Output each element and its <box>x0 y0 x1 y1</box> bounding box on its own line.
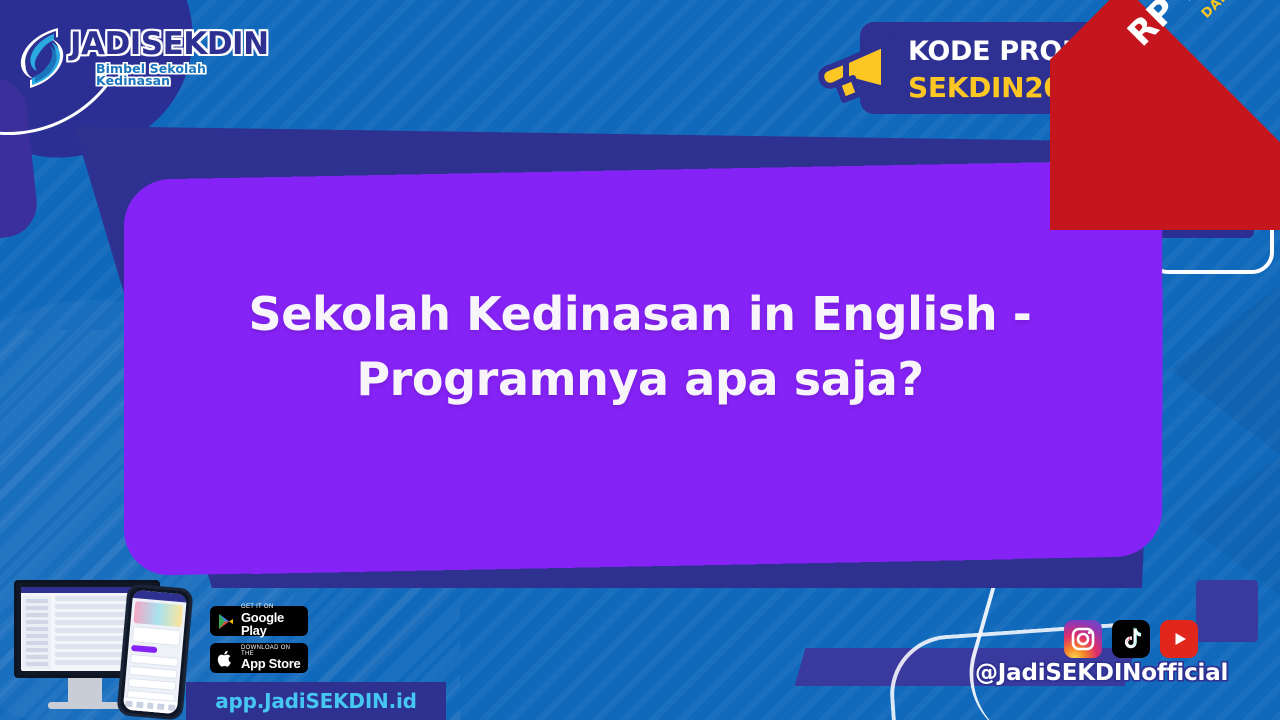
phone-promo-card <box>132 626 181 646</box>
brand-logo[interactable]: JADISEKDIN Bimbel Sekolah Kedinasan <box>14 20 254 96</box>
navy-square-bottom-right <box>1196 580 1258 642</box>
discount-ribbon: DAPATKAN POTONGAN HARGA RP 20.000 <box>1050 0 1280 230</box>
app-store-badges: GET IT ON Google Play Download on the Ap… <box>210 606 308 680</box>
megaphone-icon <box>812 28 908 120</box>
google-play-badge[interactable]: GET IT ON Google Play <box>210 606 308 636</box>
phone-hero-banner <box>133 601 183 627</box>
device-mockups <box>6 578 216 720</box>
apple-icon <box>216 649 235 668</box>
discount-ribbon-subtext: DAPATKAN POTONGAN HARGA <box>1192 0 1280 42</box>
triangle-accent-right-lower <box>1185 455 1280 595</box>
discount-ribbon-text: DAPATKAN POTONGAN HARGA RP 20.000 <box>1050 0 1280 230</box>
phone-screen <box>123 590 187 714</box>
page-title-line-2: Programnya apa saja? <box>180 347 1100 412</box>
desktop-monitor-base <box>48 702 122 709</box>
google-play-badge-label: Google Play <box>241 611 302 638</box>
phone-chip <box>131 645 157 653</box>
brand-logo-tagline: Bimbel Sekolah Kedinasan <box>96 63 269 88</box>
instagram-icon[interactable] <box>1064 620 1102 658</box>
purple-blob-shape <box>0 75 40 246</box>
app-store-badge-label: App Store <box>241 657 302 671</box>
app-store-badge[interactable]: Download on the App Store <box>210 643 308 673</box>
triangle-accent-right <box>1170 285 1280 455</box>
social-icons <box>1064 620 1204 660</box>
page-title: Sekolah Kedinasan in English - Programny… <box>180 282 1100 413</box>
page-title-line-1: Sekolah Kedinasan in English - <box>180 282 1100 347</box>
desktop-screen-sidebar <box>23 596 51 669</box>
social-handle: @JadiSEKDINofficial <box>975 660 1228 686</box>
app-url-bar[interactable]: app.JadiSEKDIN.id <box>186 682 446 720</box>
smartphone-mockup <box>116 583 193 720</box>
promo-banner: Sekolah Kedinasan in English - Programny… <box>0 0 1280 720</box>
jadisekdin-s-monogram-icon <box>14 25 72 91</box>
tiktok-icon[interactable] <box>1112 620 1150 658</box>
brand-logo-wordmark: JADISEKDIN <box>70 29 269 60</box>
app-url-text: app.JadiSEKDIN.id <box>215 689 417 713</box>
desktop-monitor-stand <box>68 678 102 702</box>
google-play-icon <box>216 612 235 631</box>
youtube-icon[interactable] <box>1160 620 1198 658</box>
